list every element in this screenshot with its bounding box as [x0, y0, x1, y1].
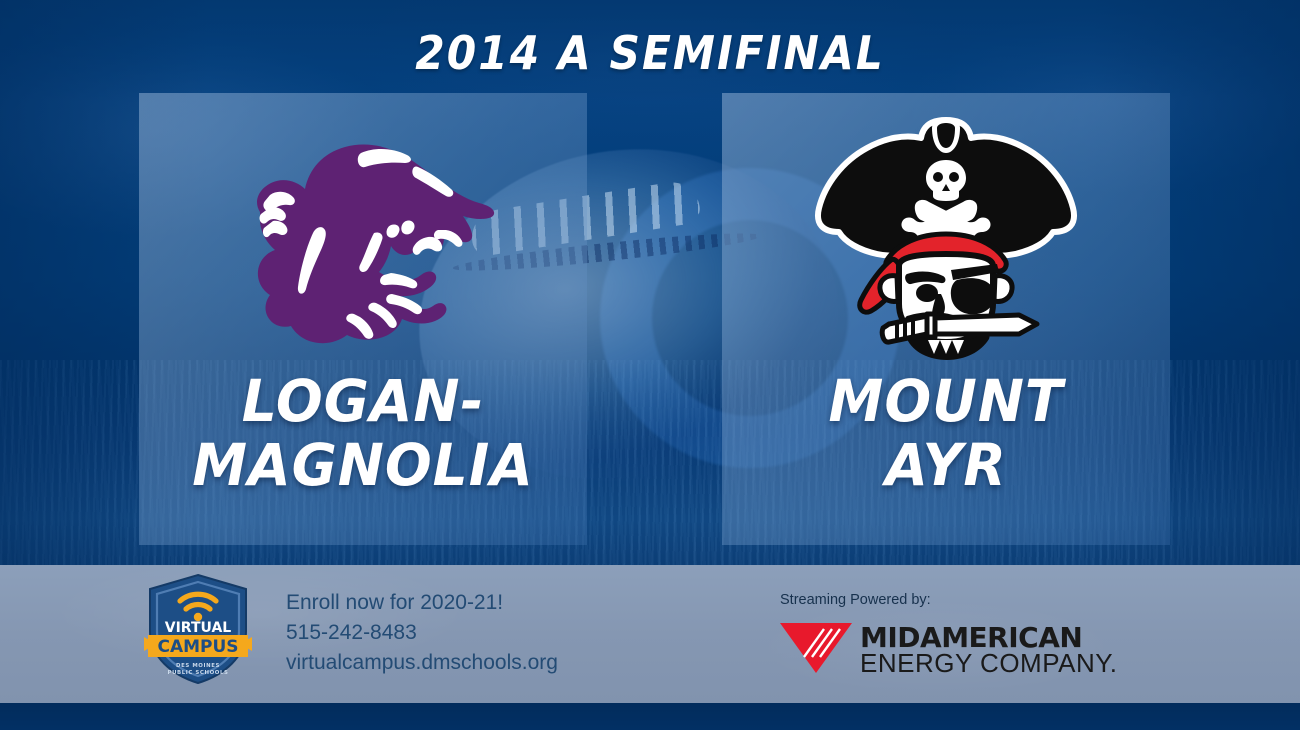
streaming-powered-label: Streaming Powered by: [780, 592, 931, 608]
enroll-info: Enroll now for 2020-21! 515-242-8483 vir… [286, 588, 558, 678]
bottom-strip [0, 703, 1300, 730]
pirate-head-logo [801, 108, 1091, 360]
mae-brand-line2: ENERGY COMPANY. [860, 648, 1117, 675]
enroll-website[interactable]: virtualcampus.dmschools.org [286, 648, 558, 678]
team-name-right: MOUNT AYR [733, 369, 1159, 497]
enroll-phone[interactable]: 515-242-8483 [286, 618, 558, 648]
team-panel-right: MOUNT AYR [722, 93, 1170, 545]
team-panel-left: LOGAN- MAGNOLIA [139, 93, 587, 545]
team-name-left: LOGAN- MAGNOLIA [150, 369, 576, 497]
virtual-campus-shield-logo[interactable]: VIRTUAL CAMPUS DES MOINES PUBLIC SCHOOLS [144, 573, 252, 685]
page-title: 2014 A SEMIFINAL [52, 26, 1248, 80]
vc-line1: VIRTUAL [165, 620, 232, 636]
vc-sub1: DES MOINES [176, 663, 220, 669]
team-logo-right-wrap [722, 93, 1170, 375]
vc-sub2: PUBLIC SCHOOLS [168, 670, 229, 676]
midamerican-energy-logo[interactable]: MIDAMERICAN ENERGY COMPANY. [778, 617, 1118, 675]
broadcast-matchup-graphic: 2014 A SEMIFINAL [0, 0, 1300, 730]
panther-head-logo [213, 109, 513, 359]
enroll-line-1: Enroll now for 2020-21! [286, 588, 558, 618]
team-logo-left-wrap [139, 93, 587, 375]
vc-line2: CAMPUS [157, 637, 238, 657]
